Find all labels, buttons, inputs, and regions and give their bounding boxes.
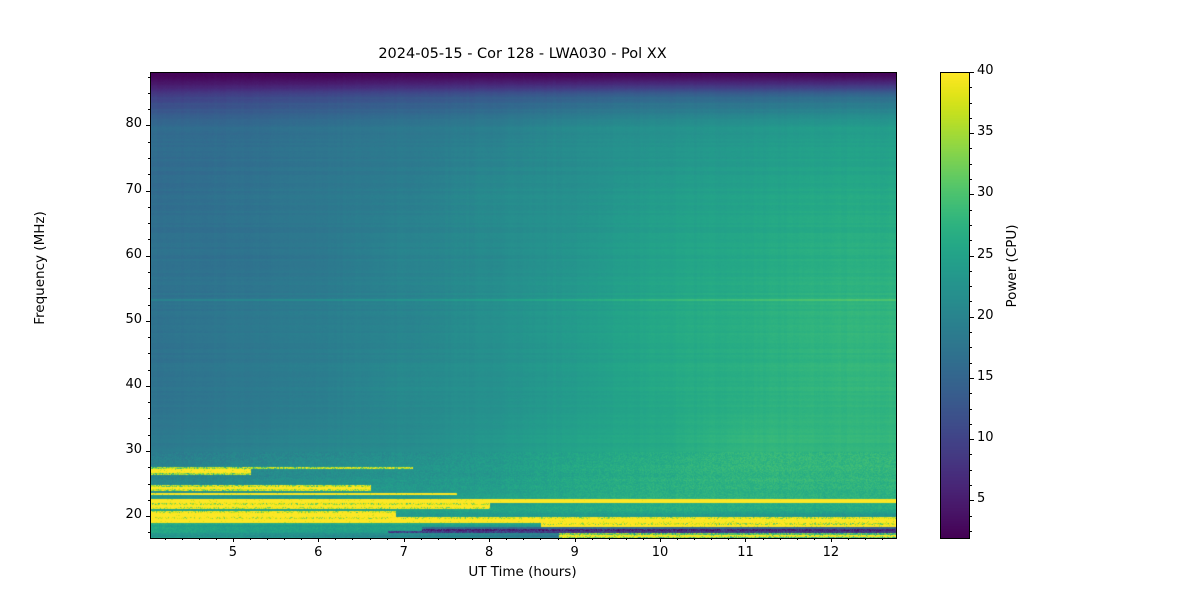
y-axis-tick [146, 321, 150, 322]
colorbar-tick [970, 256, 974, 257]
colorbar-tick-label: 40 [977, 63, 994, 78]
x-axis-tick [489, 538, 490, 542]
colorbar-tick [970, 439, 974, 440]
y-axis-minor-tick [148, 207, 150, 208]
x-axis-tick-label: 7 [384, 545, 424, 560]
y-axis-tick-label: 70 [102, 182, 142, 197]
x-axis-minor-tick [814, 538, 815, 540]
y-axis-tick-label: 30 [102, 442, 142, 457]
x-axis-tick-label: 9 [555, 545, 595, 560]
y-axis-minor-tick [148, 77, 150, 78]
y-axis-tick [146, 191, 150, 192]
x-axis-minor-tick [643, 538, 644, 540]
spectrogram-axes [150, 72, 897, 539]
colorbar-minor-tick [970, 424, 972, 425]
x-axis-minor-tick [609, 538, 610, 540]
colorbar-tick [970, 378, 974, 379]
y-axis-minor-tick [148, 109, 150, 110]
colorbar-tick [970, 317, 974, 318]
colorbar-minor-tick [970, 301, 972, 302]
colorbar-tick [970, 133, 974, 134]
y-axis-minor-tick [148, 353, 150, 354]
x-axis-tick [404, 538, 405, 542]
colorbar-minor-tick [970, 332, 972, 333]
colorbar-tick-label: 35 [977, 124, 994, 139]
x-axis-minor-tick [250, 538, 251, 540]
colorbar-gradient [941, 73, 969, 538]
x-axis-label: UT Time (hours) [150, 564, 895, 580]
x-axis-minor-tick [267, 538, 268, 540]
colorbar-label: Power (CPU) [1004, 166, 1020, 366]
y-axis-minor-tick [148, 93, 150, 94]
x-axis-minor-tick [506, 538, 507, 540]
y-axis-minor-tick [148, 337, 150, 338]
y-axis-tick [146, 386, 150, 387]
x-axis-minor-tick [199, 538, 200, 540]
colorbar-tick-label: 30 [977, 185, 994, 200]
colorbar-minor-tick [970, 179, 972, 180]
x-axis-minor-tick [387, 538, 388, 540]
colorbar-tick [970, 72, 974, 73]
y-axis-tick-label: 40 [102, 377, 142, 392]
colorbar-minor-tick [970, 87, 972, 88]
x-axis-minor-tick [472, 538, 473, 540]
x-axis-minor-tick [540, 538, 541, 540]
x-axis-minor-tick [182, 538, 183, 540]
page-title: 2024-05-15 - Cor 128 - LWA030 - Pol XX [150, 46, 895, 62]
x-axis-minor-tick [455, 538, 456, 540]
x-axis-minor-tick [728, 538, 729, 540]
x-axis-minor-tick [523, 538, 524, 540]
x-axis-minor-tick [438, 538, 439, 540]
y-axis-tick-label: 50 [102, 312, 142, 327]
y-axis-tick [146, 125, 150, 126]
y-axis-minor-tick [148, 223, 150, 224]
x-axis-tick [318, 538, 319, 542]
x-axis-tick-label: 12 [811, 545, 851, 560]
matplotlib-figure: 2024-05-15 - Cor 128 - LWA030 - Pol XX 2… [0, 0, 1200, 600]
x-axis-tick [575, 538, 576, 542]
y-axis-minor-tick [148, 500, 150, 501]
x-axis-minor-tick [165, 538, 166, 540]
colorbar-minor-tick [970, 347, 972, 348]
y-axis-minor-tick [148, 484, 150, 485]
x-axis-minor-tick [677, 538, 678, 540]
x-axis-tick-label: 11 [725, 545, 765, 560]
x-axis-tick [831, 538, 832, 542]
y-axis-tick [146, 451, 150, 452]
y-axis-minor-tick [148, 435, 150, 436]
spectrogram-heatmap [151, 73, 896, 538]
y-axis-tick-label: 20 [102, 507, 142, 522]
colorbar-minor-tick [970, 409, 972, 410]
colorbar-tick-label: 5 [977, 491, 985, 506]
x-axis-minor-tick [335, 538, 336, 540]
colorbar-minor-tick [970, 271, 972, 272]
y-axis-tick [146, 516, 150, 517]
y-axis-minor-tick [148, 305, 150, 306]
colorbar-minor-tick [970, 210, 972, 211]
x-axis-minor-tick [352, 538, 353, 540]
x-axis-minor-tick [421, 538, 422, 540]
x-axis-minor-tick [592, 538, 593, 540]
y-axis-minor-tick [148, 402, 150, 403]
y-axis-minor-tick [148, 158, 150, 159]
colorbar-minor-tick [970, 118, 972, 119]
x-axis-minor-tick [284, 538, 285, 540]
colorbar-minor-tick [970, 516, 972, 517]
colorbar-tick [970, 500, 974, 501]
x-axis-tick-label: 10 [640, 545, 680, 560]
x-axis-minor-tick [882, 538, 883, 540]
x-axis-minor-tick [694, 538, 695, 540]
x-axis-tick [660, 538, 661, 542]
x-axis-minor-tick [370, 538, 371, 540]
colorbar-minor-tick [970, 225, 972, 226]
y-axis-tick-label: 80 [102, 116, 142, 131]
x-axis-minor-tick [558, 538, 559, 540]
y-axis-minor-tick [148, 418, 150, 419]
x-axis-minor-tick [763, 538, 764, 540]
colorbar-tick-label: 25 [977, 247, 994, 262]
colorbar-axes [940, 72, 970, 539]
colorbar-minor-tick [970, 485, 972, 486]
x-axis-tick [233, 538, 234, 542]
colorbar-minor-tick [970, 393, 972, 394]
colorbar-tick-label: 15 [977, 369, 994, 384]
colorbar-tick [970, 194, 974, 195]
y-axis-tick [146, 256, 150, 257]
y-axis-minor-tick [148, 532, 150, 533]
colorbar-minor-tick [970, 531, 972, 532]
x-axis-minor-tick [865, 538, 866, 540]
y-axis-minor-tick [148, 288, 150, 289]
x-axis-tick-label: 8 [469, 545, 509, 560]
x-axis-minor-tick [301, 538, 302, 540]
colorbar-minor-tick [970, 470, 972, 471]
colorbar-minor-tick [970, 363, 972, 364]
x-axis-tick [745, 538, 746, 542]
y-axis-tick-label: 60 [102, 247, 142, 262]
colorbar-minor-tick [970, 164, 972, 165]
y-axis-minor-tick [148, 467, 150, 468]
y-axis-minor-tick [148, 142, 150, 143]
x-axis-minor-tick [711, 538, 712, 540]
colorbar-tick-label: 10 [977, 430, 994, 445]
x-axis-minor-tick [797, 538, 798, 540]
x-axis-minor-tick [216, 538, 217, 540]
colorbar-minor-tick [970, 454, 972, 455]
colorbar-minor-tick [970, 286, 972, 287]
x-axis-minor-tick [848, 538, 849, 540]
colorbar-tick-label: 20 [977, 308, 994, 323]
x-axis-minor-tick [626, 538, 627, 540]
x-axis-tick-label: 6 [298, 545, 338, 560]
y-axis-minor-tick [148, 174, 150, 175]
colorbar-minor-tick [970, 103, 972, 104]
y-axis-minor-tick [148, 239, 150, 240]
y-axis-label: Frequency (MHz) [32, 168, 48, 368]
x-axis-minor-tick [780, 538, 781, 540]
y-axis-minor-tick [148, 370, 150, 371]
x-axis-tick-label: 5 [213, 545, 253, 560]
colorbar-minor-tick [970, 148, 972, 149]
colorbar-minor-tick [970, 240, 972, 241]
y-axis-minor-tick [148, 272, 150, 273]
